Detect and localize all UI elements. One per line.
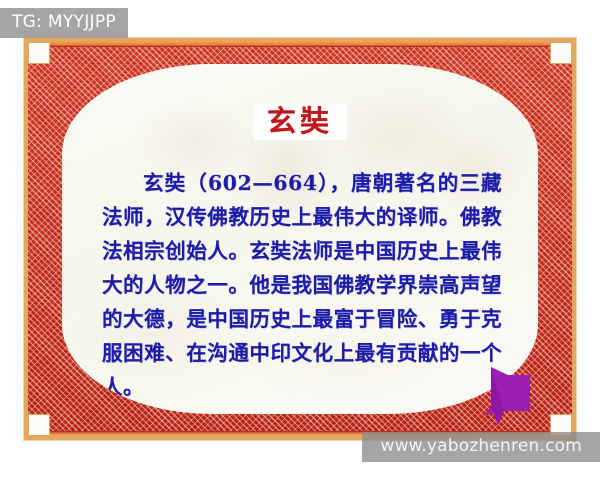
watermark-top-left: TG: MYYJJPP: [0, 8, 128, 38]
frame-corner-top-right: [550, 42, 572, 64]
certificate-frame: 玄奘 玄奘（602—664），唐朝著名的三藏法师，汉传佛教历史上最伟大的译师。佛…: [24, 38, 576, 440]
page-title: 玄奘: [267, 106, 333, 136]
watermark-bottom-right: www.yabozhenren.com: [362, 432, 600, 462]
title-block: 玄奘: [253, 104, 347, 140]
frame-top-edge: [28, 42, 572, 47]
body-paragraph: 玄奘（602—664），唐朝著名的三藏法师，汉传佛教历史上最伟大的译师。佛教法相…: [102, 166, 502, 404]
frame-corner-top-left: [28, 42, 50, 64]
slide-canvas: 玄奘 玄奘（602—664），唐朝著名的三藏法师，汉传佛教历史上最伟大的译师。佛…: [0, 0, 600, 480]
content-panel: 玄奘 玄奘（602—664），唐朝著名的三藏法师，汉传佛教历史上最伟大的译师。佛…: [62, 64, 538, 414]
frame-corner-bottom-left: [28, 414, 50, 436]
